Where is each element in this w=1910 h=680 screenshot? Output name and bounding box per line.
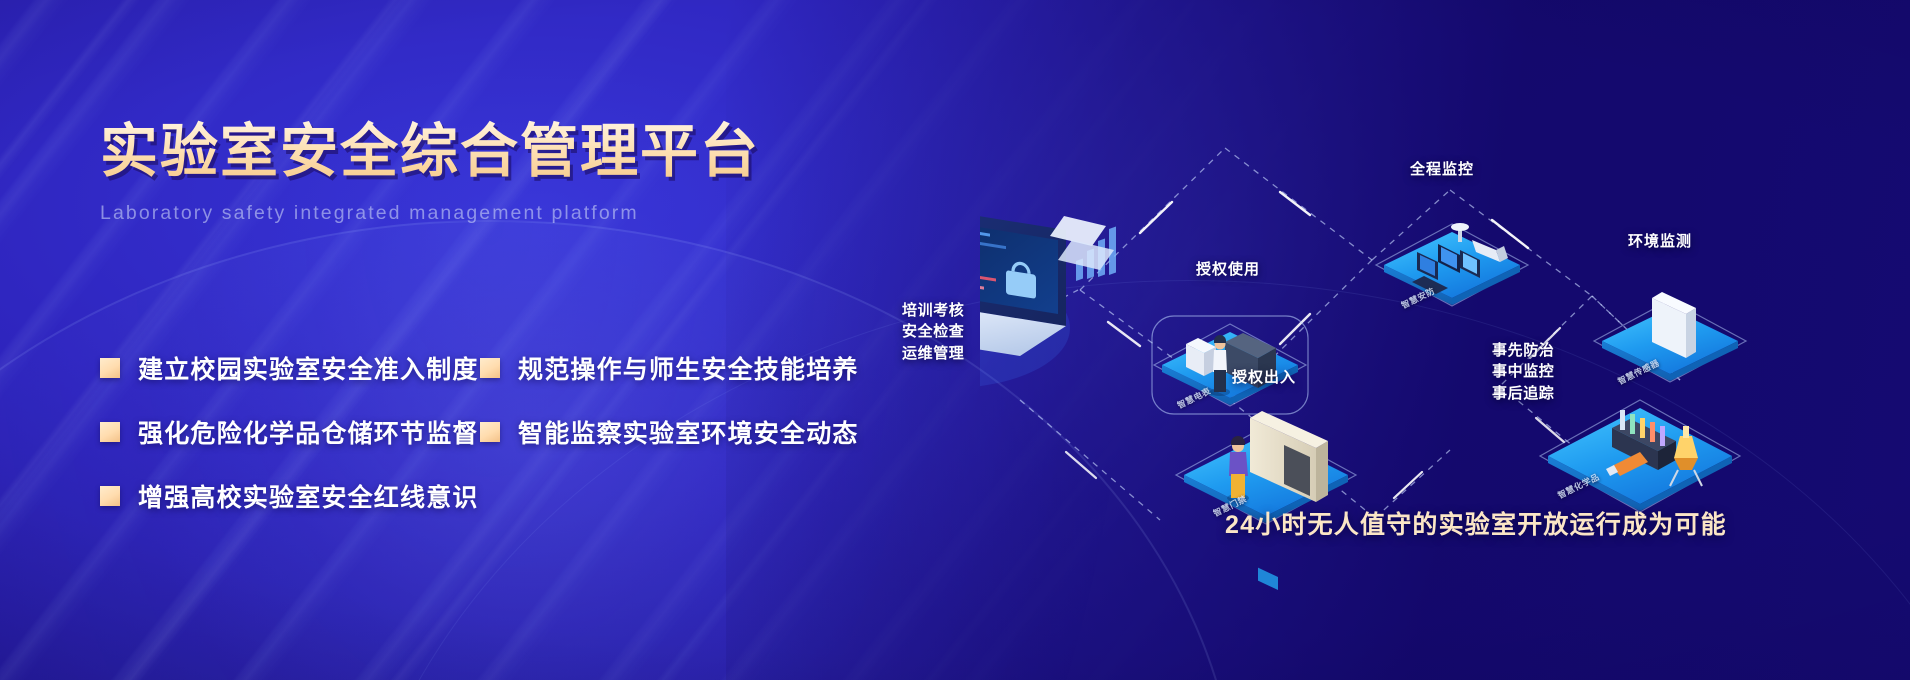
- diagram-label-authorized-use: 授权使用: [1196, 258, 1260, 279]
- list-item-label: 增强高校实验室安全红线意识: [138, 478, 479, 514]
- node-authorized-access: [1176, 411, 1356, 590]
- diagram-label-authorized-access: 授权出入: [1232, 366, 1296, 387]
- feature-bullets: 建立校园实验室安全准入制度 强化危险化学品仓储环节监督 增强高校实验室安全红线意…: [100, 338, 890, 526]
- list-item-label: 建立校园实验室安全准入制度: [138, 350, 479, 386]
- note-line: 培训考核: [902, 300, 964, 321]
- bullet-column-right: 规范操作与师生安全技能培养 智能监察实验室环境安全动态: [480, 338, 880, 526]
- headline-block: 实验室安全综合管理平台 Laboratory safety integrated…: [100, 120, 880, 225]
- diagram-label-full-monitoring: 全程监控: [1410, 158, 1474, 179]
- bullet-square-icon: [480, 422, 500, 442]
- list-item: 建立校园实验室安全准入制度: [100, 338, 480, 398]
- page-subtitle: Laboratory safety integrated management …: [100, 202, 880, 225]
- bullet-square-icon: [480, 358, 500, 378]
- illustration-training-devices: [980, 191, 1116, 388]
- list-item-label: 强化危险化学品仓储环节监督: [138, 414, 479, 450]
- note-line: 事中监控: [1492, 361, 1554, 382]
- bottom-caption: 24小时无人值守的实验室开放运行成为可能: [1225, 505, 1727, 541]
- note-line: 事先防治: [1492, 340, 1554, 361]
- note-prevention-block: 事先防治 事中监控 事后追踪: [1492, 340, 1554, 404]
- note-line: 运维管理: [902, 343, 964, 364]
- bullet-square-icon: [100, 358, 120, 378]
- diagram-label-environment-monitoring: 环境监测: [1628, 230, 1692, 251]
- list-item: 智能监察实验室环境安全动态: [480, 402, 880, 462]
- note-training-block: 培训考核 安全检查 运维管理: [902, 300, 964, 364]
- note-line: 安全检查: [902, 321, 964, 342]
- list-item: 规范操作与师生安全技能培养: [480, 338, 880, 398]
- bullet-square-icon: [100, 486, 120, 506]
- bullet-column-left: 建立校园实验室安全准入制度 强化危险化学品仓储环节监督 增强高校实验室安全红线意…: [100, 338, 480, 526]
- bullet-square-icon: [100, 422, 120, 442]
- list-item: 强化危险化学品仓储环节监督: [100, 402, 480, 462]
- note-line: 事后追踪: [1492, 383, 1554, 404]
- list-item-label: 智能监察实验室环境安全动态: [518, 414, 859, 450]
- page-title: 实验室安全综合管理平台: [100, 120, 880, 185]
- list-item: 增强高校实验室安全红线意识: [100, 466, 480, 526]
- banner-stage: 实验室安全综合管理平台 Laboratory safety integrated…: [0, 0, 1910, 680]
- list-item-label: 规范操作与师生安全技能培养: [518, 350, 859, 386]
